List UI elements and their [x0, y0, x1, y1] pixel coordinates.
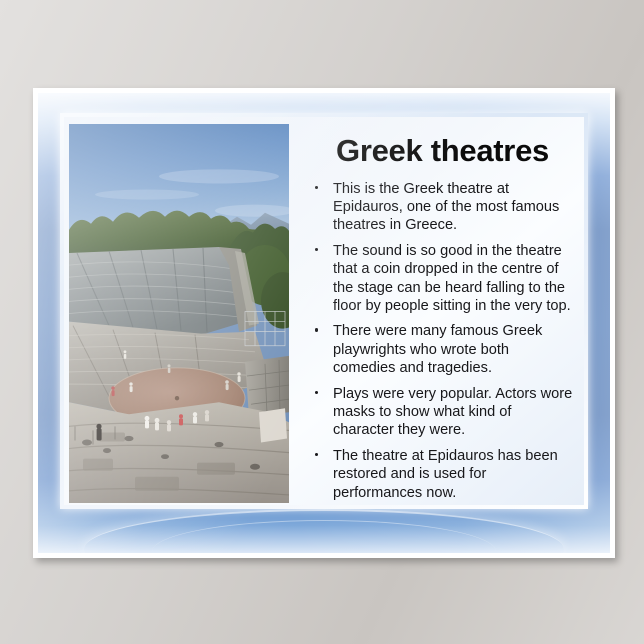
poster: Greek theatres This is the Greek theatre… [33, 88, 615, 558]
bullet-list: This is the Greek theatre at Epidauros, … [311, 180, 574, 503]
list-item: The sound is so good in the theatre that… [311, 242, 574, 316]
bullet-text: The sound is so good in the theatre that… [333, 243, 571, 314]
list-item: The theatre at Epidauros has been restor… [311, 447, 574, 502]
inner-bevel: Greek theatres This is the Greek theatre… [60, 113, 588, 509]
bullet-text: The theatre at Epidauros has been restor… [333, 448, 558, 501]
bullet-dot-icon [315, 453, 318, 456]
bullet-dot-icon [315, 248, 318, 251]
epidauros-theatre-photo [69, 124, 289, 503]
page-title: Greek theatres [311, 135, 574, 168]
bullet-text: Plays were very popular. Actors wore mas… [333, 386, 572, 439]
bullet-dot-icon [315, 328, 318, 331]
list-item: Plays were very popular. Actors wore mas… [311, 385, 574, 440]
bullet-text: This is the Greek theatre at Epidauros, … [333, 181, 559, 234]
frame-arc-decoration [84, 509, 564, 553]
frame-arc-decoration-secondary [152, 520, 495, 553]
poster-frame: Greek theatres This is the Greek theatre… [38, 93, 610, 553]
bullet-dot-icon [315, 186, 318, 189]
bullet-dot-icon [315, 391, 318, 394]
poster-content: Greek theatres This is the Greek theatre… [64, 117, 584, 505]
bullet-text: There were many famous Greek playwrights… [333, 323, 542, 376]
list-item: There were many famous Greek playwrights… [311, 322, 574, 377]
list-item: This is the Greek theatre at Epidauros, … [311, 180, 574, 235]
text-column: Greek theatres This is the Greek theatre… [289, 117, 584, 505]
